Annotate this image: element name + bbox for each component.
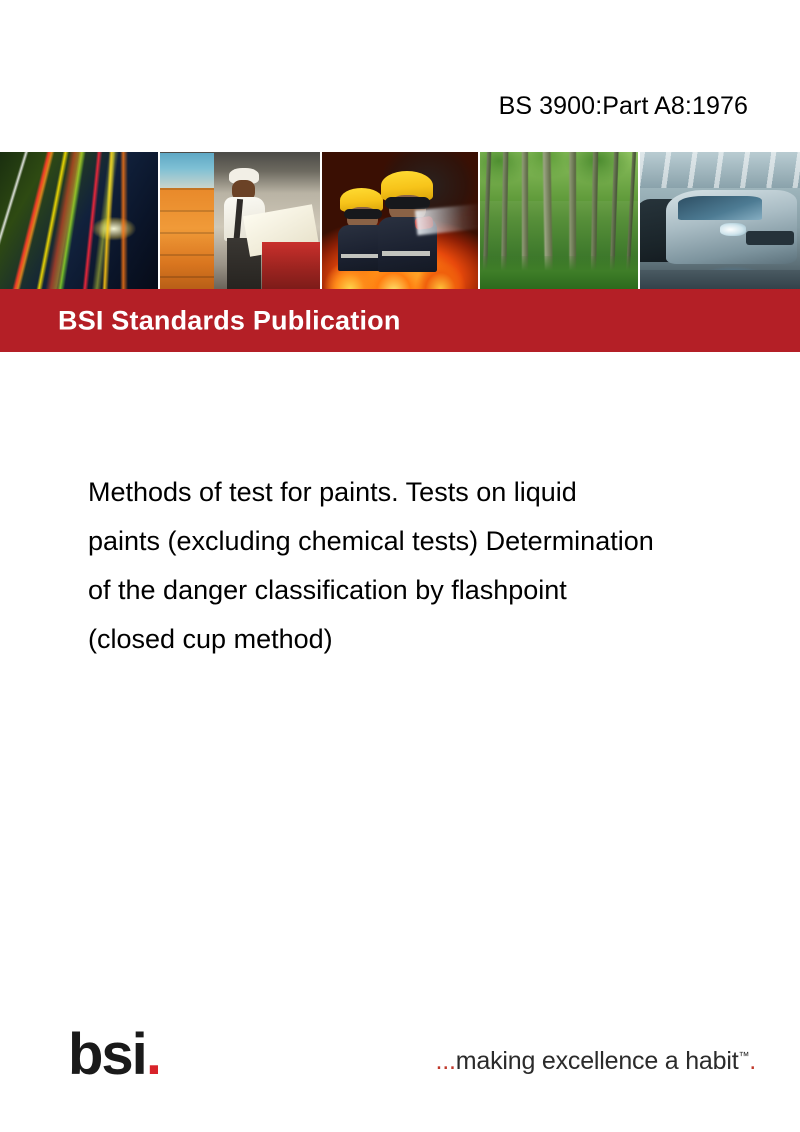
tagline-end-dot: . (749, 1047, 756, 1075)
title-line: paints (excluding chemical tests) Determ… (88, 517, 788, 566)
firefighter-reflective-band (341, 254, 382, 258)
photo-panel-forest (480, 152, 640, 289)
standard-reference-number: BS 3900:Part A8:1976 (499, 92, 748, 121)
photo-panel-warehouse-worker (160, 152, 322, 289)
document-title: Methods of test for paints. Tests on liq… (88, 468, 788, 664)
photo-panel-light-trails (0, 152, 160, 289)
cover-page: BS 3900:Part A8:1976 (0, 0, 800, 1132)
tagline-ellipsis: ... (436, 1047, 456, 1075)
bsi-logo: bsi. (68, 1026, 160, 1084)
forest-floor (480, 256, 638, 289)
bsi-logo-text: bsi (68, 1022, 146, 1087)
tagline-text: making excellence a habit (456, 1047, 739, 1075)
car-windscreen (678, 196, 761, 221)
photo-panel-firefighters (322, 152, 480, 289)
title-line: of the danger classification by flashpoi… (88, 566, 788, 615)
warehouse-red-bins (262, 242, 320, 289)
warehouse-crates (160, 188, 214, 289)
cover-photo-strip (0, 152, 800, 289)
title-line: Methods of test for paints. Tests on liq… (88, 468, 788, 517)
publisher-banner: BSI Standards Publication (0, 289, 800, 352)
title-line: (closed cup method) (88, 615, 788, 664)
firefighter-visor (344, 209, 382, 219)
factory-ceiling-lights (640, 152, 800, 188)
trademark-symbol: ™ (738, 1051, 749, 1063)
bsi-logo-dot: . (146, 1022, 160, 1087)
photo-panel-car-assembly (640, 152, 800, 289)
bsi-tagline: ...making excellence a habit™. (436, 1047, 756, 1076)
assembly-line-floor (640, 270, 800, 289)
publisher-banner-label: BSI Standards Publication (58, 305, 401, 336)
car-grille (746, 231, 794, 245)
firefighter-reflective-band (382, 251, 431, 256)
car-headlight (720, 223, 746, 235)
firefighter-visor (385, 197, 430, 209)
